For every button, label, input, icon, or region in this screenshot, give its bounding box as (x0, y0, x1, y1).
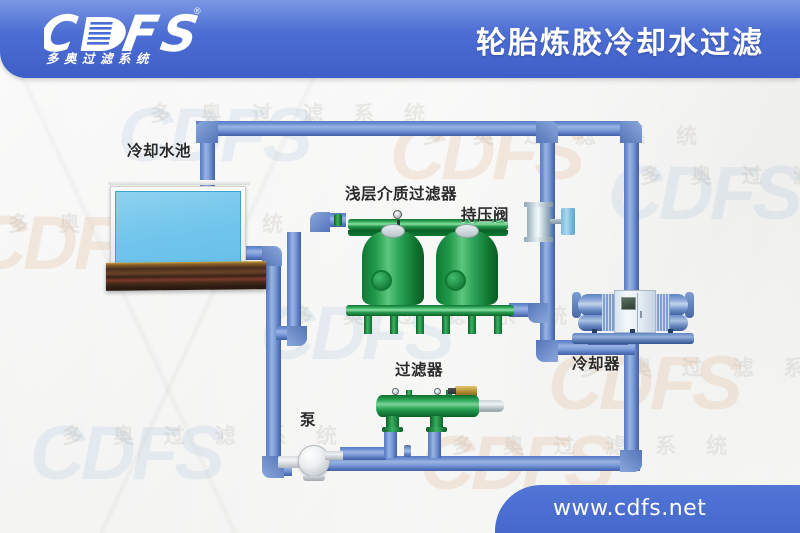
cooler-display-screen (621, 297, 636, 310)
smf-leg (494, 316, 502, 334)
pump-unit (294, 443, 358, 483)
pressure-gauge-icon (393, 210, 402, 219)
filter-flange (382, 427, 403, 432)
smf-vessel (436, 231, 498, 305)
label-shallow-media-filter: 浅层介质过滤器 (345, 182, 457, 204)
smf-bottom-manifold (346, 305, 514, 316)
watermark-logo: CDFS (30, 410, 221, 497)
cabinet-handle (640, 311, 642, 318)
pipe-elbow-smf-inlet (310, 212, 330, 232)
pump-suction-nozzle (278, 456, 300, 468)
page-footer: www.cdfs.net (495, 485, 800, 533)
drain-valve-stub (404, 445, 411, 457)
smf-vessel (362, 231, 424, 305)
svg-text:S: S (156, 9, 201, 63)
pool-coping (108, 180, 250, 185)
page-header: C F S ® 多奥过滤系统 轮胎炼胶冷却水过滤 (0, 0, 800, 78)
pump-discharge-nozzle (325, 451, 343, 460)
pipe-elbow-branch-bottom (536, 340, 558, 362)
pipe-elbow-smf-feed (287, 326, 307, 346)
cooler-base-header (572, 333, 694, 344)
cooler-control-cabinet (614, 290, 656, 333)
pipe-elbow-pool-top (196, 121, 218, 143)
label-pressure-sustaining-valve: 持压阀 (461, 203, 509, 225)
pressure-sustaining-valve (527, 200, 579, 244)
filter-gauge-icon (392, 388, 399, 395)
valve-body (527, 206, 550, 238)
pipe-elbow-branch-top (536, 121, 558, 143)
valve-actuator (561, 208, 575, 235)
support-beam (106, 261, 266, 291)
pump-baseplate (303, 476, 325, 481)
pipe-elbow-smf-outlet (528, 303, 548, 323)
pipe-elbow-bottom-right (620, 450, 642, 472)
label-filter: 过滤器 (395, 358, 443, 380)
website-url[interactable]: www.cdfs.net (553, 496, 706, 521)
smf-leg (364, 316, 372, 334)
diagram-canvas: CDFS CDFS CDFS CDFS CDFS CDFS CDFS CDFS … (0, 0, 800, 533)
cooler-fins (656, 294, 670, 331)
smf-leg (390, 316, 398, 334)
smf-leg (468, 316, 476, 334)
filter-body (376, 395, 480, 417)
filter-end-cap (479, 400, 504, 412)
label-cooler: 冷却器 (572, 352, 620, 374)
brand-subtitle: 多奥过滤系统 (46, 48, 154, 67)
pipe-elbow-cooler-top (620, 121, 642, 143)
cabinet-door-seam (637, 293, 638, 332)
pump-volute (298, 445, 330, 477)
watermark-subtitle: 多 奥 过 滤 系 统 (640, 160, 800, 190)
filter-gauge-icon (434, 388, 441, 395)
smf-leg (442, 316, 450, 334)
smf-leg (416, 316, 424, 334)
label-cooling-pool: 冷却水池 (127, 139, 191, 161)
pipe-suction-downcomer (266, 258, 281, 473)
page-title: 轮胎炼胶冷却水过滤 (476, 18, 764, 62)
filter-unit (376, 387, 504, 433)
filter-flange (426, 427, 447, 432)
pipe-smf-feed-riser (287, 232, 301, 332)
pipe-top-header (196, 121, 638, 136)
label-pump: 泵 (300, 408, 316, 430)
cooler-unit (572, 288, 694, 346)
